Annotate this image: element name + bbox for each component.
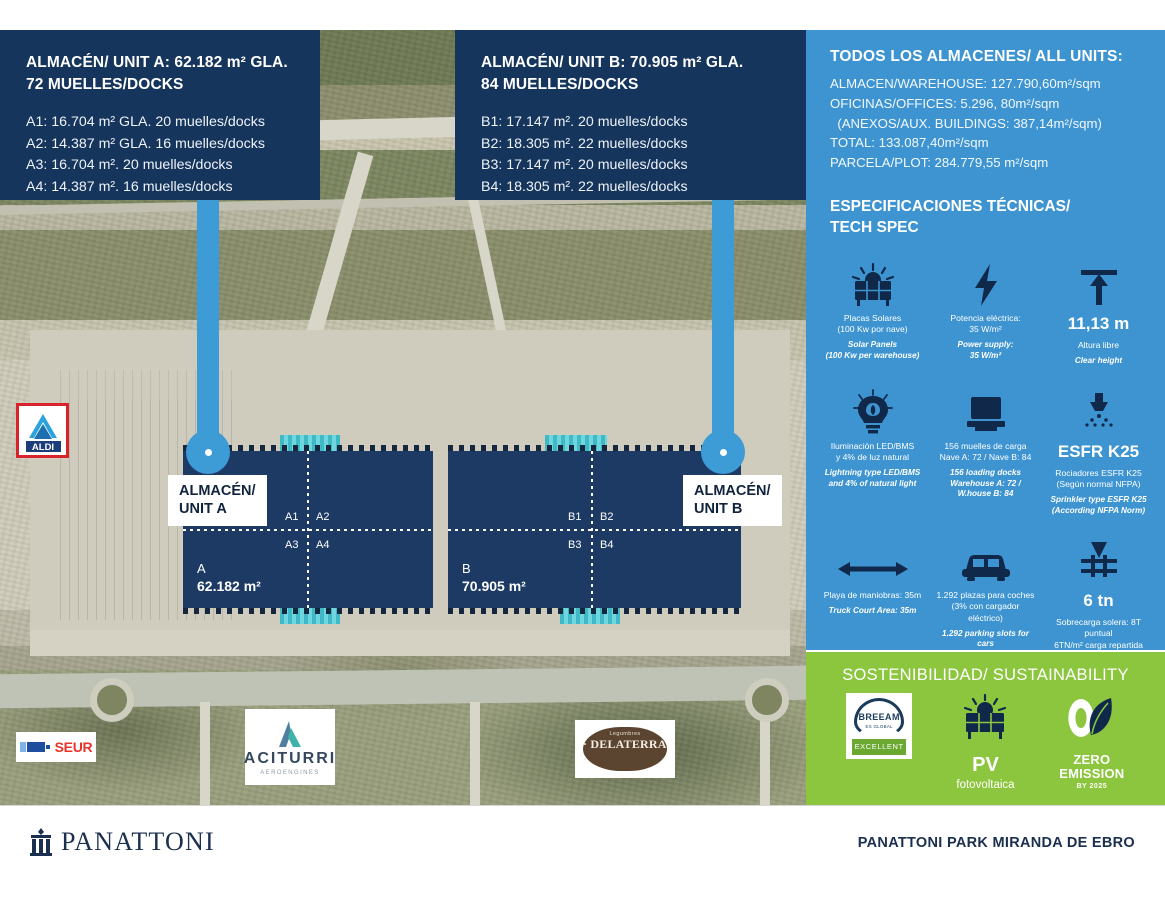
spec-truck-court-en: Truck Court Area: 35m — [820, 606, 925, 617]
spec-clear-height-es: Altura libre — [1046, 340, 1151, 351]
panattoni-logo[interactable]: PANATTONI — [30, 827, 215, 857]
badge-pv: PV fotovoltaica — [935, 693, 1035, 791]
breeam-wordmark: BREEAM — [846, 712, 912, 722]
map-side-road — [200, 702, 210, 805]
delaterra-badge: Legumbres · DELATERRA · — [583, 727, 667, 771]
tech-spec-heading-line1: ESPECIFICACIONES TÉCNICAS/ — [830, 198, 1070, 215]
pin-marker-unit-a[interactable] — [186, 430, 230, 474]
spec-sprinkler-es: Rociadores ESFR K25 (Según normal NFPA) — [1046, 468, 1151, 490]
spec-slab-value: 6 tn — [1046, 591, 1151, 611]
aciturri-tagline: AEROENGINES — [260, 770, 319, 776]
callout-unit-b[interactable]: ALMACÉN/ UNIT B — [683, 475, 782, 526]
tech-spec-heading-line2: TECH SPEC — [830, 219, 919, 236]
panel-unit-a: ALMACÉN/ UNIT A: 62.182 m² GLA. 72 MUELL… — [0, 30, 320, 200]
sprinkler-icon — [1046, 383, 1151, 435]
sustainability-badges: BREEAM ES GLOBAL EXCELLENT — [806, 685, 1165, 791]
brochure-page: A1 A2 A3 A4 A 62.182 m² B1 B2 B3 B4 B 70… — [0, 0, 1165, 900]
building-b-letter: B — [462, 561, 471, 576]
panel-unit-a-title-line1: ALMACÉN/ UNIT A: 62.182 m² GLA. — [26, 54, 288, 71]
spec-clear-height-en: Clear height — [1046, 356, 1151, 367]
svg-text:ALDI: ALDI — [32, 442, 54, 453]
panattoni-mark-icon — [30, 828, 52, 856]
spec-clear-height-value: 11,13 m — [1046, 314, 1151, 334]
aciturri-mark-icon — [274, 718, 306, 750]
car-icon — [933, 532, 1038, 584]
breeam-sub: ES GLOBAL — [846, 724, 912, 729]
callout-unit-a[interactable]: ALMACÉN/ UNIT A — [168, 475, 267, 526]
panel-unit-a-item: A1: 16.704 m² GLA. 20 muelles/docks — [26, 112, 294, 134]
tenant-logo-aldi[interactable]: ALDI — [16, 403, 69, 458]
spec-sprinkler-value: ESFR K25 — [1046, 442, 1151, 462]
map-side-road — [470, 702, 480, 805]
footer-project-name: PANATTONI PARK MIRANDA DE EBRO — [858, 835, 1135, 851]
panel-unit-a-title: ALMACÉN/ UNIT A: 62.182 m² GLA. 72 MUELL… — [26, 52, 294, 96]
led-lightbulb-icon — [820, 383, 925, 435]
pv-sublabel: fotovoltaica — [935, 779, 1035, 791]
panel-unit-a-item: A4: 14.387 m². 16 muelles/docks — [26, 177, 294, 199]
tenant-logo-delaterra[interactable]: Legumbres · DELATERRA · — [575, 720, 675, 778]
spec-solar-en: Solar Panels (100 Kw per warehouse) — [820, 340, 925, 361]
panel-unit-b-item: B4: 18.305 m². 22 muelles/docks — [481, 177, 780, 199]
panel-sustainability: SOSTENIBILIDAD/ SUSTAINABILITY BREEAM ES… — [806, 652, 1165, 805]
page-footer: PANATTONI PANATTONI PARK MIRANDA DE EBRO — [0, 805, 1165, 900]
panel-unit-b-item: B1: 17.147 m². 20 muelles/docks — [481, 112, 780, 134]
sublabel-a1: A1 — [285, 511, 298, 523]
map-roundabout — [90, 678, 134, 722]
spec-solar-panels: Placas Solares (100 Kw por nave) Solar P… — [816, 243, 929, 371]
spec-power-en: Power supply: 35 W/m² — [933, 340, 1038, 361]
pv-solar-icon — [954, 693, 1016, 745]
callout-unit-a-line2: UNIT A — [179, 500, 256, 518]
panel-unit-b-item: B2: 18.305 m². 22 muelles/docks — [481, 134, 780, 156]
all-units-line: TOTAL: 133.087,40m²/sqm — [830, 133, 1141, 153]
seur-wordmark: SEUR — [55, 739, 93, 755]
map-truck-court — [30, 630, 790, 656]
panel-unit-a-title-line2: 72 MUELLES/DOCKS — [26, 76, 184, 93]
footer-divider — [0, 805, 1165, 806]
spec-power-es: Potencia eléctrica: 35 W/m² — [933, 313, 1038, 335]
clear-height-icon — [1046, 255, 1151, 307]
sublabel-b3: B3 — [568, 539, 581, 551]
spec-sprinkler-en: Sprinkler type ESFR K25 (According NFPA … — [1046, 495, 1151, 516]
seur-mark-icon — [20, 740, 50, 754]
callout-unit-b-line2: UNIT B — [694, 500, 771, 518]
pv-label: PV — [935, 754, 1035, 777]
sublabel-a4: A4 — [316, 539, 329, 551]
tenant-logo-aciturri[interactable]: ACITURRI AEROENGINES — [245, 709, 335, 785]
spec-slab-es: Sobrecarga solera: 8T puntual 6TN/m² car… — [1046, 617, 1151, 651]
all-units-line: OFICINAS/OFFICES: 5.296, 80m²/sqm — [830, 94, 1141, 114]
all-units-title: TODOS LOS ALMACENES/ ALL UNITS: — [830, 48, 1141, 66]
building-a-divider-horizontal — [183, 529, 433, 531]
loading-dock-icon — [933, 383, 1038, 435]
all-units-line: ALMACEN/WAREHOUSE: 127.790,60m²/sqm — [830, 74, 1141, 94]
panel-unit-a-list: A1: 16.704 m² GLA. 20 muelles/docks A2: … — [26, 112, 294, 199]
aciturri-wordmark: ACITURRI — [244, 750, 336, 768]
sublabel-b2: B2 — [600, 511, 613, 523]
all-units-block: TODOS LOS ALMACENES/ ALL UNITS: ALMACEN/… — [806, 48, 1165, 239]
panel-tech-spec: TODOS LOS ALMACENES/ ALL UNITS: ALMACEN/… — [806, 30, 1165, 650]
building-b-area: 70.905 m² — [462, 578, 526, 594]
sublabel-b4: B4 — [600, 539, 613, 551]
zero-emission-icon — [1061, 693, 1123, 745]
slab-load-icon — [1046, 532, 1151, 584]
double-arrow-icon — [820, 532, 925, 584]
spec-sprinkler: ESFR K25 Rociadores ESFR K25 (Según norm… — [1042, 371, 1155, 521]
building-a-letter: A — [197, 561, 206, 576]
tenant-logo-seur[interactable]: SEUR — [16, 732, 96, 762]
panel-unit-a-item: A2: 14.387 m² GLA. 16 muelles/docks — [26, 134, 294, 156]
badge-zero-emission: ZERO EMISSION BY 2025 — [1042, 693, 1142, 790]
panel-unit-a-item: A3: 16.704 m². 20 muelles/docks — [26, 155, 294, 177]
panel-unit-b-list: B1: 17.147 m². 20 muelles/docks B2: 18.3… — [481, 112, 780, 199]
spec-solar-es: Placas Solares (100 Kw por nave) — [820, 313, 925, 335]
zero-line2: EMISSION — [1059, 766, 1124, 781]
panattoni-wordmark: PANATTONI — [61, 827, 215, 857]
callout-unit-b-line1: ALMACÉN/ — [694, 482, 771, 500]
zero-emission-sub: BY 2025 — [1042, 783, 1142, 790]
tech-spec-heading: ESPECIFICACIONES TÉCNICAS/ TECH SPEC — [830, 197, 1141, 239]
spec-truck-court-es: Playa de maniobras: 35m — [820, 590, 925, 601]
sublabel-a2: A2 — [316, 511, 329, 523]
spec-docks-en: 156 loading docks Warehouse A: 72 / W.ho… — [933, 468, 1038, 500]
sublabel-b1: B1 — [568, 511, 581, 523]
spec-loading-docks: 156 muelles de carga Nave A: 72 / Nave B… — [929, 371, 1042, 521]
panel-unit-b: ALMACÉN/ UNIT B: 70.905 m² GLA. 84 MUELL… — [455, 30, 806, 200]
all-units-line: PARCELA/PLOT: 284.779,55 m²/sqm — [830, 153, 1141, 173]
panel-unit-b-item: B3: 17.147 m². 20 muelles/docks — [481, 155, 780, 177]
panel-unit-b-title-line1: ALMACÉN/ UNIT B: 70.905 m² GLA. — [481, 54, 743, 71]
callout-unit-a-line1: ALMACÉN/ — [179, 482, 256, 500]
solar-panel-icon — [820, 255, 925, 307]
lightning-bolt-icon — [933, 255, 1038, 307]
delaterra-wordmark: · DELATERRA · — [583, 737, 667, 767]
all-units-line: (ANEXOS/AUX. BUILDINGS: 387,14m²/sqm) — [830, 114, 1141, 134]
panel-unit-b-title-line2: 84 MUELLES/DOCKS — [481, 76, 639, 93]
building-a-area: 62.182 m² — [197, 578, 261, 594]
sustainability-title: SOSTENIBILIDAD/ SUSTAINABILITY — [806, 652, 1165, 685]
zero-emission-label: ZERO EMISSION — [1042, 753, 1142, 780]
breeam-rating: EXCELLENT — [852, 739, 906, 755]
aldi-icon: ALDI — [21, 408, 66, 455]
spec-parking-es: 1.292 plazas para coches (3% con cargado… — [933, 590, 1038, 624]
spec-power-supply: Potencia eléctrica: 35 W/m² Power supply… — [929, 243, 1042, 371]
map-roundabout — [745, 678, 789, 722]
spec-docks-es: 156 muelles de carga Nave A: 72 / Nave B… — [933, 441, 1038, 463]
badge-breeam: BREEAM ES GLOBAL EXCELLENT — [829, 693, 929, 759]
pin-marker-unit-b[interactable] — [701, 430, 745, 474]
top-white-strip — [0, 0, 1165, 30]
spec-lighting-es: Iluminación LED/BMS y 4% de luz natural — [820, 441, 925, 463]
building-b-divider-horizontal — [448, 529, 741, 531]
spec-lighting-en: Lightning type LED/BMS and 4% of natural… — [820, 468, 925, 489]
breeam-icon: BREEAM ES GLOBAL EXCELLENT — [846, 693, 912, 759]
sublabel-a3: A3 — [285, 539, 298, 551]
panel-unit-b-title: ALMACÉN/ UNIT B: 70.905 m² GLA. 84 MUELL… — [481, 52, 780, 96]
spec-clear-height: 11,13 m Altura libre Clear height — [1042, 243, 1155, 371]
spec-lighting: Iluminación LED/BMS y 4% de luz natural … — [816, 371, 929, 521]
